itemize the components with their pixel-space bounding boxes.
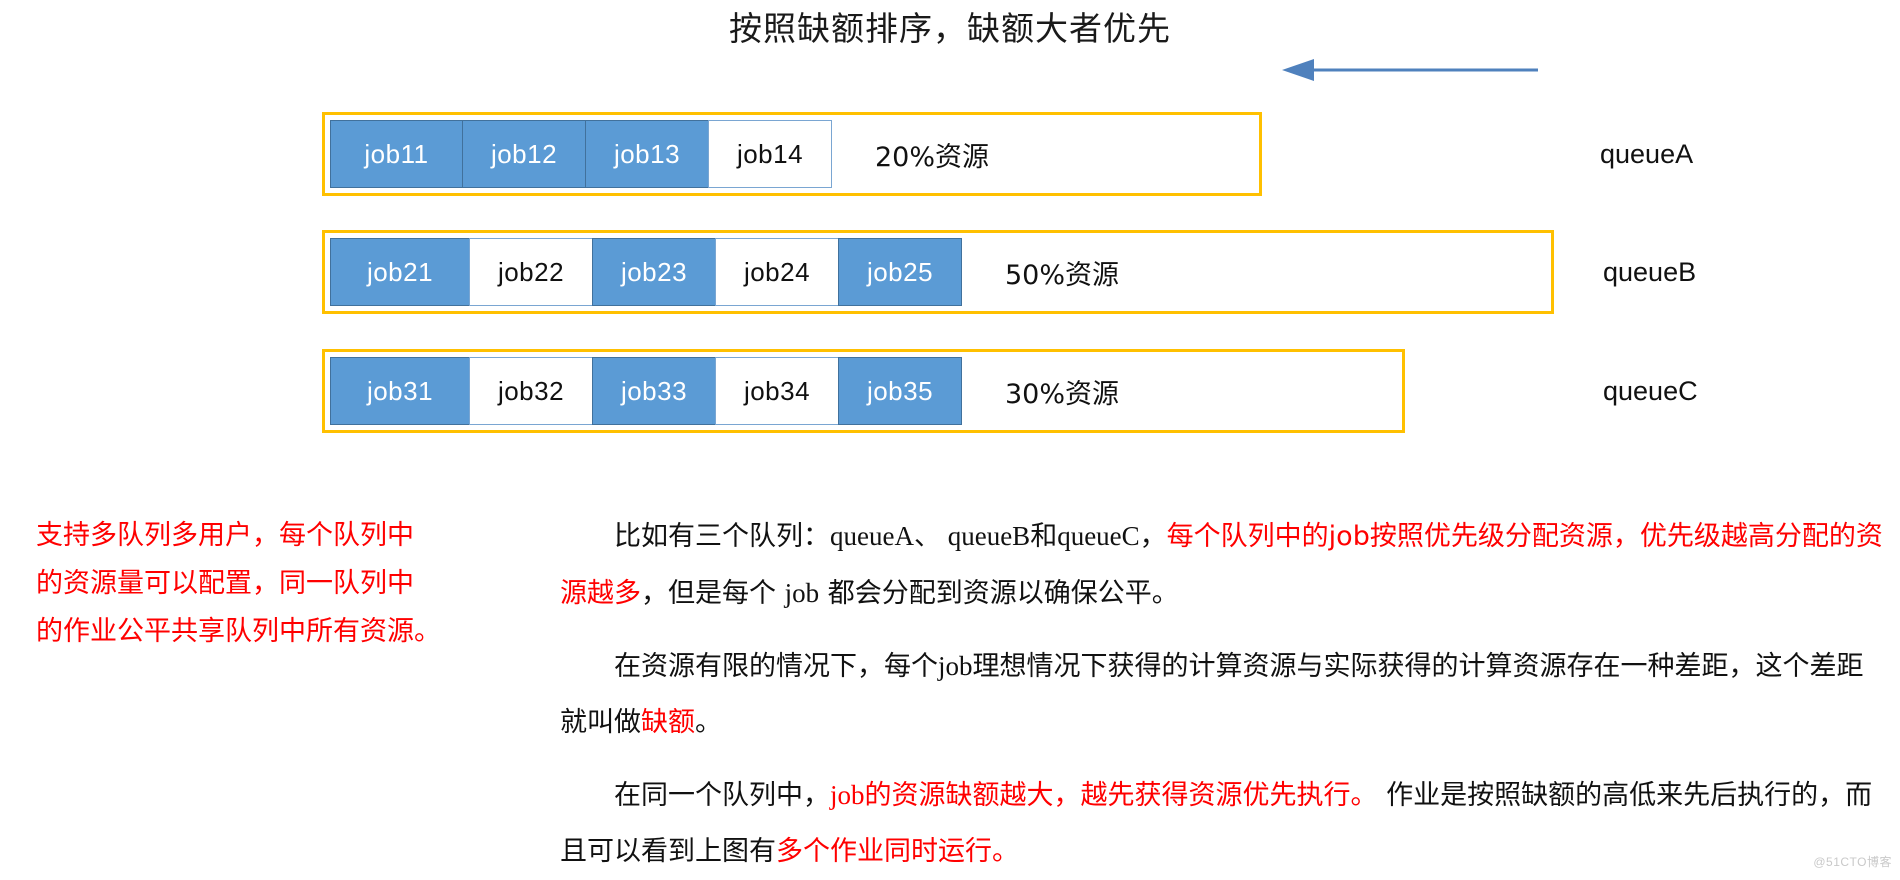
job-box[interactable]: job21 xyxy=(330,238,470,306)
queue-row-a: job11 job12 job13 job14 20%资源 xyxy=(322,112,1262,196)
job-box[interactable]: job12 xyxy=(462,120,586,188)
job-box[interactable]: job22 xyxy=(469,238,593,306)
queue-c-resource-label: 30%资源 xyxy=(961,352,1119,430)
job-box[interactable]: job35 xyxy=(838,357,962,425)
job-box[interactable]: job23 xyxy=(592,238,716,306)
queue-diagram: job11 job12 job13 job14 20%资源 queueA job… xyxy=(0,0,1900,460)
p1-seg-e: 都会分配到资源以确保公平。 xyxy=(819,578,1179,609)
p3-seg-a: 在同一个队列中， xyxy=(614,780,830,811)
queue-c-jobs: job31 job32 job33 job34 job35 xyxy=(325,352,961,430)
p1-seg-a: 比如有三个队列： xyxy=(614,521,830,552)
p3-seg-red: 的资源缺额越大，越先获得资源优先执行。 xyxy=(865,780,1378,811)
job-box[interactable]: job32 xyxy=(469,357,593,425)
p2-seg-c: 。 xyxy=(695,707,722,738)
job-box[interactable]: job14 xyxy=(708,120,832,188)
watermark: @51CTO博客 xyxy=(1813,853,1892,870)
p1-seg-job: job xyxy=(785,578,820,608)
job-box[interactable]: job24 xyxy=(715,238,839,306)
left-note-line-3: 的作业公平共享队列中所有资源。 xyxy=(36,608,496,656)
job-box[interactable]: job13 xyxy=(585,120,709,188)
paragraph-1: 比如有三个队列：queueA、 queueB和queueC，每个队列中的job按… xyxy=(560,508,1890,622)
queue-a-jobs: job11 job12 job13 job14 xyxy=(325,115,831,193)
queue-b-jobs: job21 job22 job23 job24 job25 xyxy=(325,233,961,311)
queue-b-resource-label: 50%资源 xyxy=(961,233,1119,311)
job-box[interactable]: job25 xyxy=(838,238,962,306)
job-box[interactable]: job31 xyxy=(330,357,470,425)
p1-seg-d: ，但是每个 xyxy=(641,578,785,609)
job-box[interactable]: job34 xyxy=(715,357,839,425)
left-note-line-2: 的资源量可以配置，同一队列中 xyxy=(36,560,496,608)
queue-row-b: job21 job22 job23 job24 job25 50%资源 xyxy=(322,230,1554,314)
queue-label-c: queueC xyxy=(1603,376,1698,407)
left-note-line-1: 支持多队列多用户，每个队列中 xyxy=(36,512,496,560)
p1-seg-queues: queueA、 queueB和queueC xyxy=(830,521,1140,551)
paragraph-2: 在资源有限的情况下，每个job理想情况下获得的计算资源与实际获得的计算资源存在一… xyxy=(560,638,1890,751)
p3-seg-red2: 多个作业同时运行。 xyxy=(776,836,1019,867)
p2-seg-job: job xyxy=(938,651,973,681)
paragraph-3: 在同一个队列中，job的资源缺额越大，越先获得资源优先执行。 作业是按照缺额的高… xyxy=(560,767,1890,880)
p1-seg-comma: ， xyxy=(1140,521,1167,552)
left-red-note: 支持多队列多用户，每个队列中 的资源量可以配置，同一队列中 的作业公平共享队列中… xyxy=(36,512,496,656)
p3-seg-red-job: job xyxy=(830,780,865,810)
queue-label-a: queueA xyxy=(1600,139,1693,170)
p2-seg-a: 在资源有限的情况下，每个 xyxy=(614,651,938,682)
queue-row-c: job31 job32 job33 job34 job35 30%资源 xyxy=(322,349,1405,433)
job-box[interactable]: job11 xyxy=(330,120,463,188)
queue-label-b: queueB xyxy=(1603,257,1696,288)
explanation-body: 比如有三个队列：queueA、 queueB和queueC，每个队列中的job按… xyxy=(560,508,1890,880)
job-box[interactable]: job33 xyxy=(592,357,716,425)
p2-seg-red: 缺额 xyxy=(641,707,695,738)
queue-a-resource-label: 20%资源 xyxy=(831,115,989,193)
